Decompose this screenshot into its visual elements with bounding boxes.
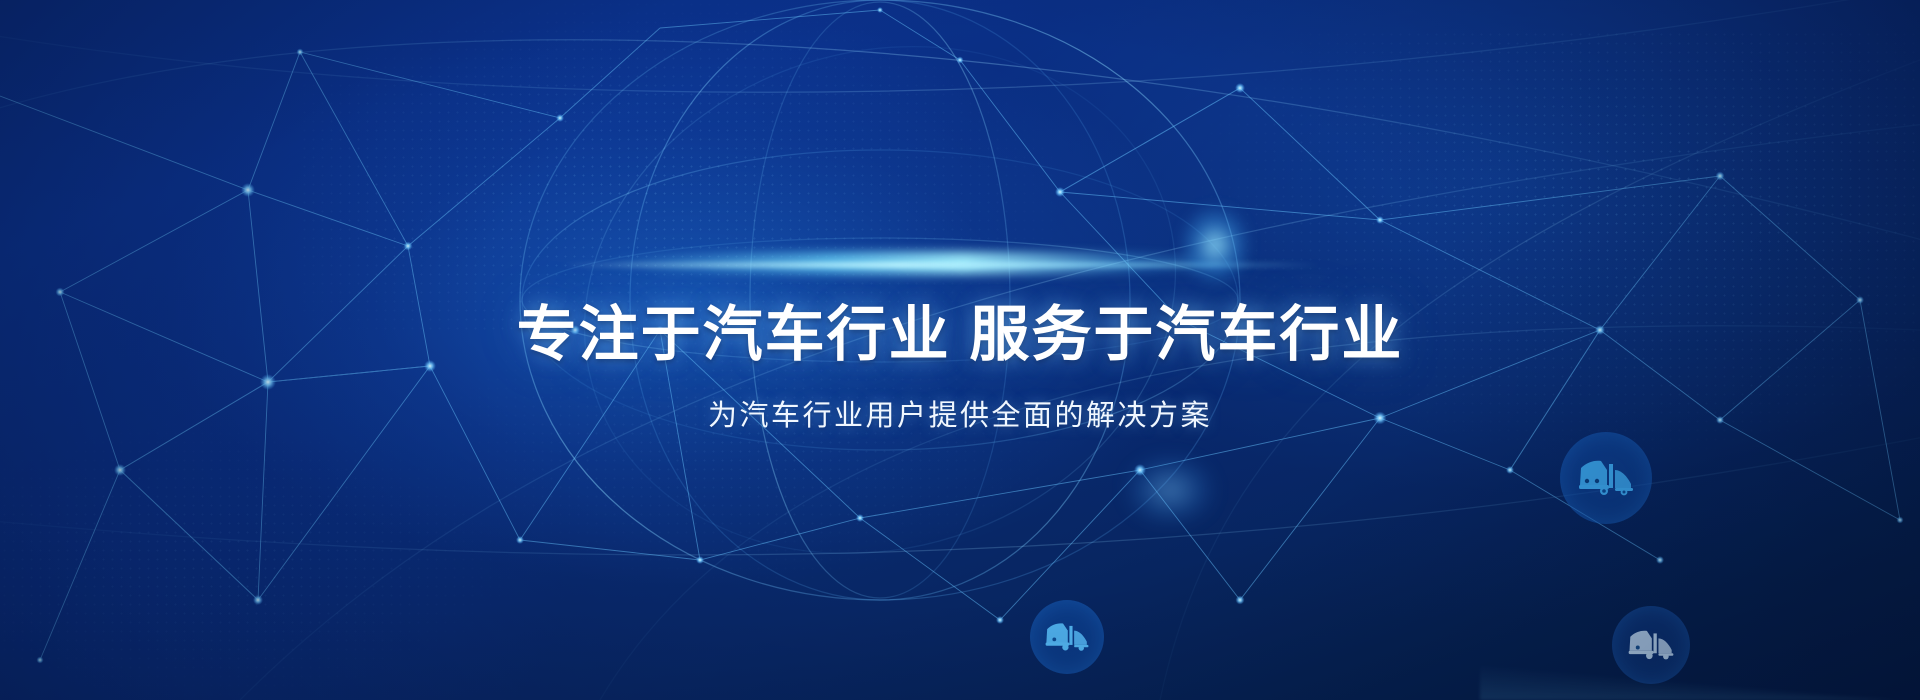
hero-banner: 专注于汽车行业 服务于汽车行业 为汽车行业用户提供全面的解决方案	[0, 0, 1920, 700]
page-title: 专注于汽车行业 服务于汽车行业	[0, 286, 1920, 373]
truck-icon	[1627, 628, 1675, 662]
truck-badge	[1612, 606, 1690, 684]
truck-badge	[1030, 600, 1104, 674]
light-glow	[1180, 205, 1250, 285]
truck-badge	[1560, 432, 1652, 524]
page-subtitle: 为汽车行业用户提供全面的解决方案	[0, 392, 1920, 434]
truck-icon	[1044, 621, 1090, 653]
light-glow	[1125, 455, 1215, 525]
truck-icon	[1577, 458, 1635, 498]
